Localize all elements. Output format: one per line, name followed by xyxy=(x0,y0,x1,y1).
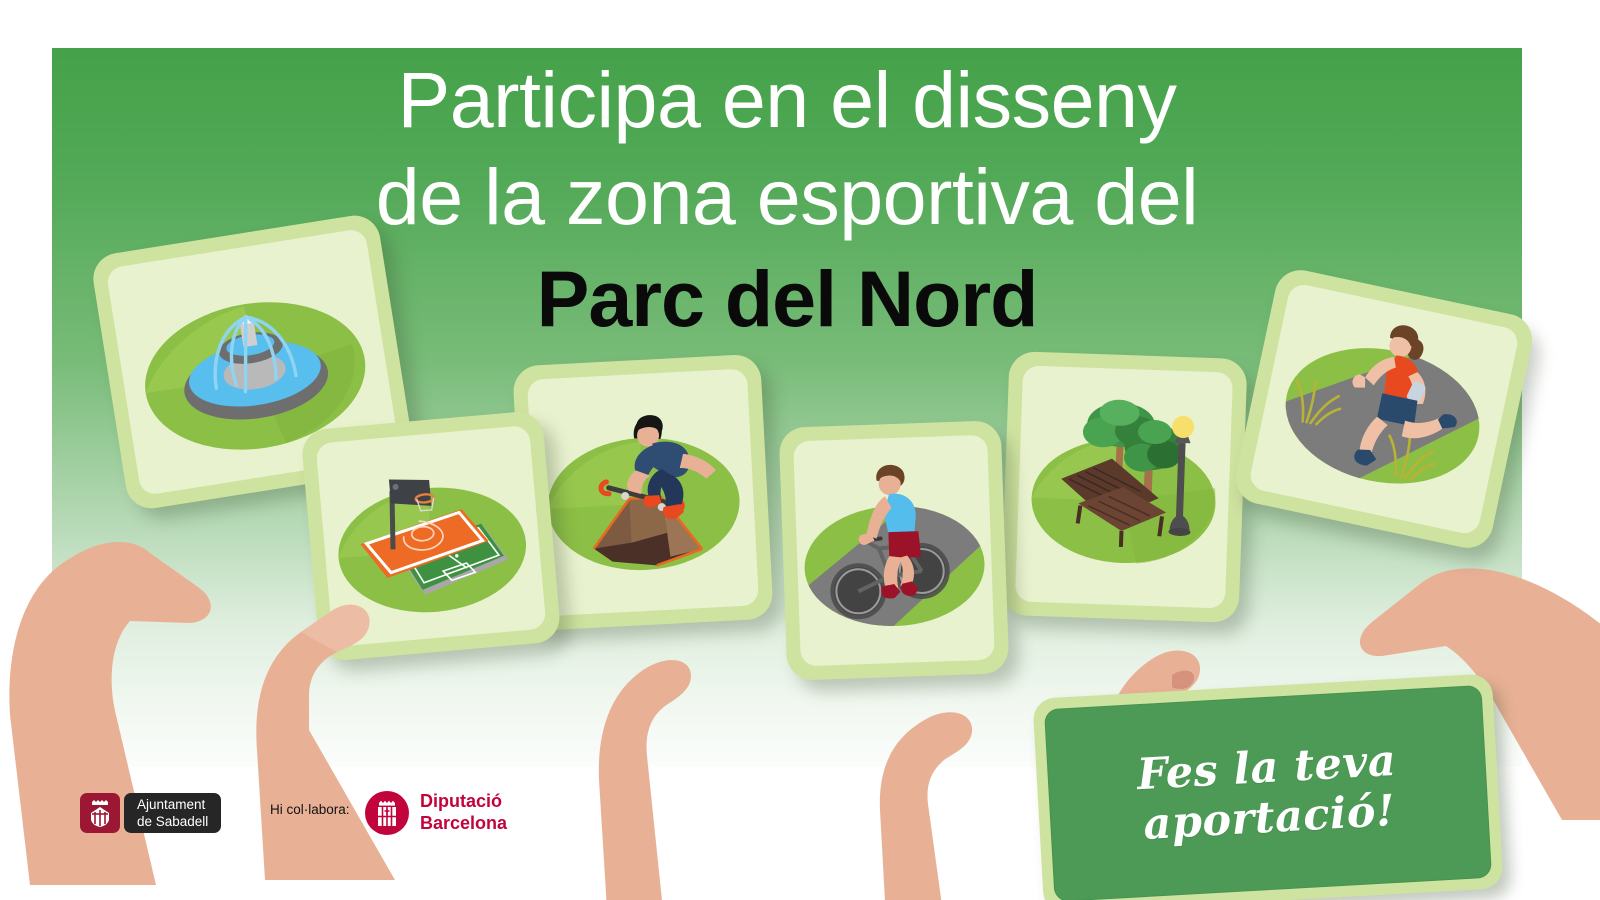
collaborator-label-text: Hi col·labora: xyxy=(270,802,350,817)
collaborator-label: Hi col·labora: xyxy=(270,801,350,819)
ajuntament-de-sabadell-logo[interactable]: Ajuntament de Sabadell xyxy=(80,793,221,833)
diputacio-barcelona-logo[interactable]: Diputació Barcelona xyxy=(365,789,507,837)
sabadell-shield-icon xyxy=(80,793,120,833)
diputacio-name: Diputació Barcelona xyxy=(420,791,507,834)
ajuntament-line-2: de Sabadell xyxy=(137,813,208,830)
diputacio-line-1: Diputació xyxy=(420,791,507,813)
ajuntament-name-box: Ajuntament de Sabadell xyxy=(124,793,221,833)
runner-icon xyxy=(1248,282,1521,536)
poster-canvas: Participa en el disseny de la zona espor… xyxy=(0,0,1600,900)
diputacio-line-2: Barcelona xyxy=(420,813,507,835)
card-running-panel xyxy=(1248,282,1521,536)
diputacio-crest-icon xyxy=(365,791,409,835)
footer-logos: Ajuntament de Sabadell Hi col·labora: xyxy=(0,775,1600,865)
ajuntament-line-1: Ajuntament xyxy=(137,796,208,813)
